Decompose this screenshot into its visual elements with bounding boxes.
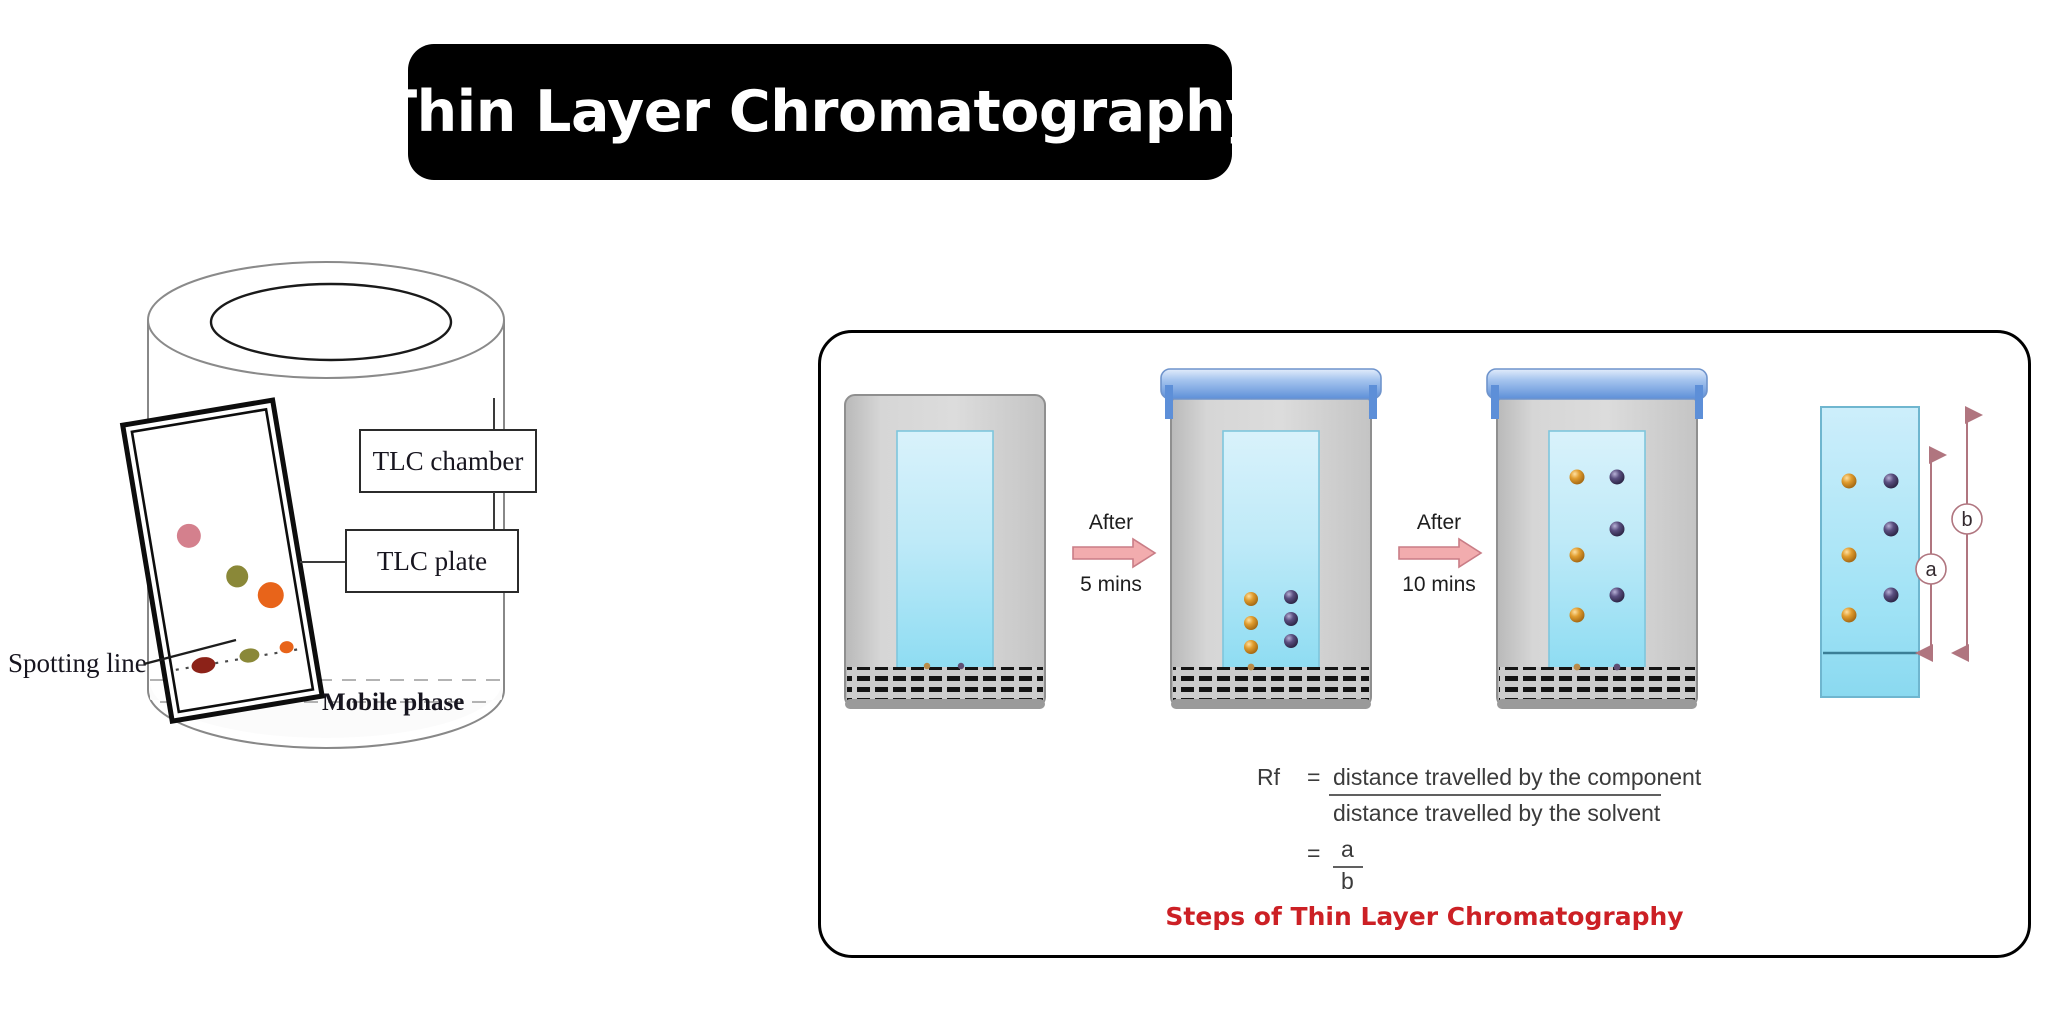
spot-orange: [1842, 608, 1857, 623]
spot-purple: [1884, 474, 1899, 489]
measure-b-label: b: [1961, 509, 1972, 531]
plate-label: TLC plate: [377, 546, 487, 576]
transition-1-line2: 5 mins: [1080, 573, 1142, 596]
spot-purple: [1610, 522, 1625, 537]
rf-numerator: distance travelled by the component: [1333, 764, 1702, 790]
spot-orange: [1244, 592, 1258, 606]
mobile-phase-label: Mobile phase: [322, 689, 464, 716]
page-title: Thin Layer Chromatography: [378, 79, 1262, 145]
chamber-lid: [1161, 369, 1381, 399]
transition-1-line1: After: [1089, 511, 1133, 534]
spot-orange: [1570, 548, 1585, 563]
spot-orange: [1842, 474, 1857, 489]
arrow-shape: [1399, 539, 1481, 567]
spot-purple: [1284, 590, 1298, 604]
baseline-spot-purple: [1614, 664, 1621, 671]
step-3-after-10-mins: [1487, 369, 1707, 709]
steps-panel: After 5 mins After 10 mins: [818, 330, 2031, 958]
baseline-spot-orange: [1574, 664, 1581, 671]
baseline-spot-purple: [958, 663, 964, 669]
after-5-mins-arrow: After 5 mins: [1073, 511, 1155, 596]
spot-purple: [1884, 588, 1899, 603]
chamber-lid: [1487, 369, 1707, 399]
steps-caption: Steps of Thin Layer Chromatography: [821, 902, 2028, 931]
tlc-chamber-illustration: TLC chamber TLC plate Spotting line Mobi…: [0, 230, 600, 750]
after-10-mins-arrow: After 10 mins: [1399, 511, 1481, 596]
rf-equals-2: =: [1307, 840, 1320, 866]
title-banner: Thin Layer Chromatography: [408, 44, 1232, 180]
rf-formula: Rf = distance travelled by the component…: [1257, 764, 1702, 893]
transition-2-line1: After: [1417, 511, 1461, 534]
jar-opening-inner: [211, 284, 451, 360]
arrow-shape: [1073, 539, 1155, 567]
spot-purple: [1610, 588, 1625, 603]
baseline-spot-orange: [1248, 664, 1255, 671]
spot-purple: [1884, 522, 1899, 537]
rf-symbol: Rf: [1257, 764, 1281, 790]
spot-orange: [1842, 548, 1857, 563]
spot-orange: [1570, 470, 1585, 485]
chamber-label: TLC chamber: [373, 446, 524, 476]
spot-purple: [1284, 612, 1298, 626]
transition-2-line2: 10 mins: [1402, 573, 1476, 596]
spot-orange: [1244, 640, 1258, 654]
spot-orange: [1570, 608, 1585, 623]
baseline-spot-orange: [924, 663, 930, 669]
step-1-plate-in-chamber: [845, 395, 1045, 709]
rf-den-short: b: [1341, 868, 1354, 893]
spot-purple: [1284, 634, 1298, 648]
measure-a-label: a: [1925, 559, 1937, 581]
rf-num-short: a: [1341, 836, 1354, 862]
spotting-line-label: Spotting line: [8, 648, 147, 678]
rf-denominator: distance travelled by the solvent: [1333, 800, 1661, 826]
rf-equals: =: [1307, 764, 1320, 790]
step-2-after-5-mins: [1161, 369, 1381, 709]
final-developed-plate: a b: [1821, 407, 1982, 697]
spot-orange: [1244, 616, 1258, 630]
spot-purple: [1610, 470, 1625, 485]
